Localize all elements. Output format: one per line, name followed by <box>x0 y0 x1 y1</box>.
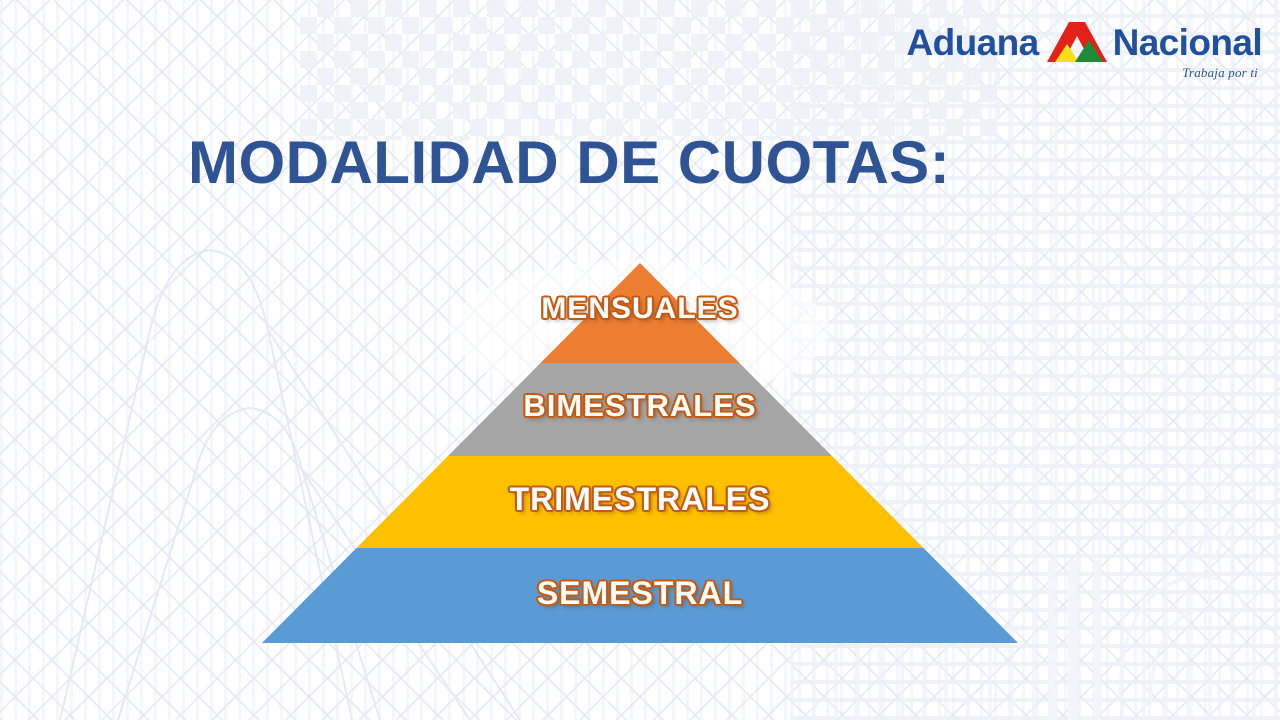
pyramid-label-mensuales: MENSUALES <box>0 292 1280 326</box>
pyramid-label-bimestrales: BIMESTRALES <box>0 388 1280 424</box>
pyramid-label-trimestrales: TRIMESTRALES <box>0 481 1280 518</box>
pyramid-label-semestral: SEMESTRAL <box>0 575 1280 612</box>
pyramid-shapes <box>0 0 1280 720</box>
pyramid-chart: MENSUALES BIMESTRALES TRIMESTRALES SEMES… <box>0 0 1280 720</box>
slide-canvas: Aduana Nacional Trabaja por ti MODALIDAD… <box>0 0 1280 720</box>
